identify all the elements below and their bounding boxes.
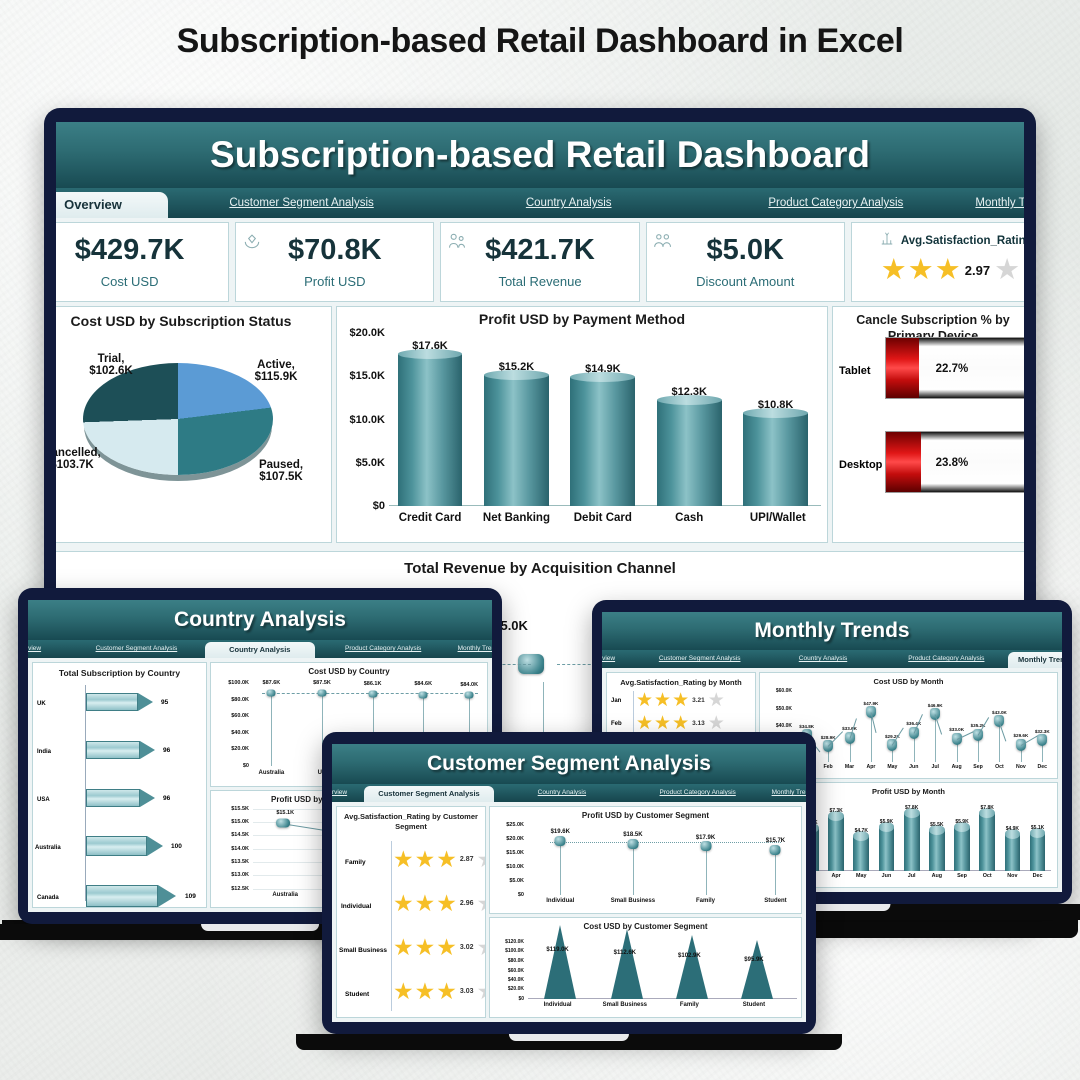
star-icon: ★ xyxy=(654,691,671,710)
star-icon: ★ xyxy=(654,714,671,733)
value-label: 95 xyxy=(161,699,168,706)
rating-stars: ★★★ 2.87 ★ xyxy=(393,848,486,871)
chart-satisfaction-by-customer-segment: Avg.Satisfaction_Rating by Customer Segm… xyxy=(336,806,486,1018)
bar xyxy=(743,413,808,506)
rating-value: 2.96 xyxy=(460,900,474,907)
tab-monthly-trends[interactable]: Monthly Trends xyxy=(969,188,1024,218)
star-icon: ★ xyxy=(393,892,414,915)
y-tick: Individual xyxy=(341,903,371,910)
bar-label: $17.6K xyxy=(398,340,463,352)
tab-customer-segment-analysis[interactable]: Customer Segment Analysis xyxy=(364,786,494,802)
y-axis: $0 $5.0K $10.0K $15.0K $20.0K xyxy=(337,333,387,506)
data-label: $33.6K xyxy=(839,726,861,731)
kpi-label: Cost USD xyxy=(101,274,159,289)
bar xyxy=(398,354,463,506)
data-label: $4.9K xyxy=(1000,826,1026,832)
rating-value: 2.97 xyxy=(965,263,990,278)
x-tick: Small Business xyxy=(601,898,666,904)
customer-segment-laptop: Customer Segment Analysis Overview Custo… xyxy=(322,732,816,1050)
money-people-icon xyxy=(447,231,467,256)
drop-line xyxy=(271,693,272,766)
tab-country-analysis[interactable]: Country Analysis xyxy=(435,188,702,218)
page-title: Subscription-based Retail Dashboard in E… xyxy=(0,22,1080,61)
bar-label: $15.2K xyxy=(484,361,549,373)
bar-label: $14.9K xyxy=(570,363,635,375)
rating-stars: ★★★ 3.21 ★ xyxy=(636,691,725,710)
x-tick: Jul xyxy=(924,764,946,770)
kpi-value: $70.8K xyxy=(288,236,382,265)
kpi-avg-satisfaction-rating: Avg.Satisfaction_Rating ★ ★ ★ 2.97 ★ xyxy=(851,222,1024,302)
tab-country-analysis[interactable]: Country Analysis xyxy=(761,650,884,668)
star-icon: ★ xyxy=(881,256,907,285)
data-label: $19.6K xyxy=(528,829,593,835)
drop-line xyxy=(543,682,544,734)
cone-bar xyxy=(611,929,643,999)
rating-stars: ★★★ 3.03 ★ xyxy=(393,980,486,1003)
chart-profit-usd-by-customer-segment: Profit USD by Customer Segment $0 $5.0K … xyxy=(489,806,802,914)
cone-bar xyxy=(544,925,576,999)
bar xyxy=(853,836,869,871)
tab-product-category-analysis[interactable]: Product Category Analysis xyxy=(702,188,969,218)
x-axis: Individual Small Business Family Student xyxy=(528,898,797,910)
x-tick: Sep xyxy=(967,764,989,770)
data-point-marker xyxy=(465,692,474,699)
data-label: $95.9K xyxy=(722,957,787,963)
star-icon: ★ xyxy=(994,256,1020,285)
data-point-marker xyxy=(770,845,781,855)
tab-overview[interactable]: Overview xyxy=(56,192,168,218)
bar xyxy=(954,827,970,871)
tab-overview[interactable]: Overview xyxy=(602,650,638,668)
star-icon: ★ xyxy=(477,936,487,959)
chart-title: Cost USD by Customer Segment xyxy=(490,918,801,931)
value-label: 96 xyxy=(163,747,170,754)
data-point-marker xyxy=(318,689,327,696)
star-icon: ★ xyxy=(436,980,457,1003)
monthly-tabbar[interactable]: Overview Customer Segment Analysis Count… xyxy=(602,650,1062,668)
rating-value: 3.02 xyxy=(460,944,474,951)
chart-title: Profit USD by Payment Method xyxy=(337,307,827,327)
x-tick: May xyxy=(848,873,874,879)
tab-product-category-analysis[interactable]: Product Category Analysis xyxy=(630,784,766,802)
tab-customer-segment-analysis[interactable]: Customer Segment Analysis xyxy=(168,188,435,218)
data-point-marker xyxy=(267,689,276,696)
data-label: $34.8K xyxy=(796,724,818,729)
people-group-icon xyxy=(653,231,673,256)
data-label: $112.6K xyxy=(593,950,658,956)
kpi-value: $5.0K xyxy=(707,236,784,265)
value-label: 100 xyxy=(171,843,182,850)
drop-line xyxy=(775,849,776,895)
data-label: $17.9K xyxy=(673,835,738,841)
data-label: $29.6K xyxy=(1010,733,1032,738)
data-point-marker xyxy=(419,691,428,698)
x-tick: Feb xyxy=(817,764,839,770)
kpi-label: Profit USD xyxy=(304,274,365,289)
x-tick: Nov xyxy=(1010,764,1032,770)
pencil-bar xyxy=(86,836,166,856)
data-label: $32.3K xyxy=(1031,729,1053,734)
x-tick: Aug xyxy=(924,873,950,879)
x-tick: Mar xyxy=(839,764,861,770)
chart-total-subscription-by-country: Total Subscription by Country UK 95 Indi… xyxy=(32,662,207,908)
pencil-bar xyxy=(86,885,180,907)
data-label: $47.9K xyxy=(860,701,882,706)
bar-label: $10.8K xyxy=(743,399,808,411)
star-icon: ★ xyxy=(708,691,725,710)
tab-product-category-analysis[interactable]: Product Category Analysis xyxy=(885,650,1008,668)
x-tick: Australia xyxy=(255,892,315,898)
x-tick: Dec xyxy=(1025,873,1051,879)
bar xyxy=(979,813,995,872)
bar xyxy=(828,816,844,871)
x-tick: Nov xyxy=(1000,873,1026,879)
value-label: 109 xyxy=(185,893,196,900)
tab-product-category-analysis[interactable]: Product Category Analysis xyxy=(315,640,452,658)
star-icon: ★ xyxy=(436,848,457,871)
cone-bar xyxy=(676,935,708,999)
y-tick: UK xyxy=(37,701,46,707)
tab-monthly-trends[interactable]: Monthly Trends xyxy=(1008,652,1062,668)
y-tick: India xyxy=(37,749,51,755)
x-axis: Individual Small Business Family Student xyxy=(528,1002,797,1014)
gauge-value: 23.8% xyxy=(936,457,969,469)
x-tick: UPI/Wallet xyxy=(726,512,828,524)
bar xyxy=(570,377,635,506)
x-tick: May xyxy=(882,764,904,770)
x-tick: Family xyxy=(673,898,738,904)
star-icon: ★ xyxy=(393,936,414,959)
rating-label: Avg.Satisfaction_Rating xyxy=(901,235,1024,247)
data-label: $43.0K xyxy=(989,710,1011,715)
kpi-label: Discount Amount xyxy=(696,274,794,289)
data-label: $7.8K xyxy=(899,805,925,811)
star-icon: ★ xyxy=(415,936,436,959)
star-icon: ★ xyxy=(672,714,689,733)
y-tick: Feb xyxy=(611,721,622,727)
star-icon: ★ xyxy=(477,980,487,1003)
laptop-base xyxy=(296,1034,842,1050)
x-tick: Debit Card xyxy=(553,512,652,524)
bar-label: $12.3K xyxy=(657,386,722,398)
data-label: $5.1K xyxy=(1025,825,1051,831)
chart-title: Avg.Satisfaction_Rating by Month xyxy=(607,673,755,687)
data-label: $4.7K xyxy=(848,828,874,834)
y-tick: Australia xyxy=(35,845,61,851)
data-label: $33.0K xyxy=(946,727,968,732)
gauge-tablet: 22.7% xyxy=(885,337,1024,399)
chart-cost-by-subscription-status: Cost USD by Subscription Status Trial, $… xyxy=(56,306,332,543)
star-icon: ★ xyxy=(908,256,934,285)
y-tick: Family xyxy=(345,859,366,866)
drop-line xyxy=(560,840,561,895)
y-tick: USA xyxy=(37,797,50,803)
kpi-cost-usd: $429.7K Cost USD xyxy=(56,222,229,302)
x-axis: FebMarAprMayJunJulAugSepOctNovDec xyxy=(796,764,1053,776)
rating-value: 3.03 xyxy=(460,988,474,995)
y-tick: Jan xyxy=(611,698,621,704)
rating-stars: ★★★ 2.96 ★ xyxy=(393,892,486,915)
kpi-value: $421.7K xyxy=(485,236,595,265)
data-point-marker xyxy=(700,841,711,851)
segment-tabbar[interactable]: Overview Customer Segment Analysis Count… xyxy=(332,784,806,802)
bar xyxy=(484,375,549,506)
data-label: $5.9K xyxy=(874,819,900,825)
monthly-header: Monthly Trends xyxy=(602,612,1062,650)
rating-value: 3.13 xyxy=(692,720,705,727)
pie-slice-label-paused: Paused, $107.5K xyxy=(239,459,323,483)
rating-value: 2.87 xyxy=(460,856,474,863)
y-tick: Canada xyxy=(37,895,59,901)
value-label: 96 xyxy=(163,795,170,802)
chart-title: Total Subscription by Country xyxy=(33,663,206,678)
bar xyxy=(929,830,945,871)
data-label: $36.4K xyxy=(903,721,925,726)
tab-customer-segment-analysis[interactable]: Customer Segment Analysis xyxy=(638,650,761,668)
x-tick: Family xyxy=(657,1002,722,1008)
star-icon: ★ xyxy=(477,848,487,871)
chart-cost-usd-by-customer-segment: Cost USD by Customer Segment $0 $20.0K $… xyxy=(489,917,802,1018)
star-icon: ★ xyxy=(436,892,457,915)
data-point-marker xyxy=(555,836,566,846)
gauge-value: 22.7% xyxy=(936,363,969,375)
x-tick: Apr xyxy=(823,873,849,879)
pencil-bar xyxy=(86,741,158,759)
y-tick: Student xyxy=(345,991,369,998)
data-label: $15.1K xyxy=(255,810,315,816)
data-label: $5.9K xyxy=(949,819,975,825)
kpi-row: $429.7K Cost USD $70.8K Profit USD xyxy=(56,218,1024,302)
data-label: $7.8K xyxy=(974,805,1000,811)
star-icon: ★ xyxy=(415,848,436,871)
country-tabbar[interactable]: Overview Customer Segment Analysis Count… xyxy=(28,640,492,658)
pie-slice-label-active: Active, $115.9K xyxy=(236,359,316,383)
kpi-label: Total Revenue xyxy=(498,274,581,289)
chart-title: Total Revenue by Acquisition Channel xyxy=(56,552,1024,577)
tab-monthly-trends[interactable]: Monthly Trends xyxy=(452,640,492,658)
bar xyxy=(904,813,920,872)
rating-stars: ★★★ 3.13 ★ xyxy=(636,714,725,733)
x-tick: Cash xyxy=(644,512,735,524)
chart-title: Cost USD by Month xyxy=(760,673,1057,686)
x-tick: Individual xyxy=(528,898,593,904)
bar xyxy=(879,827,895,871)
chart-title: Cost USD by Country xyxy=(211,663,487,676)
gauge-desktop: 23.8% xyxy=(885,431,1024,493)
data-label: $35.2K xyxy=(967,723,989,728)
fountain-icon xyxy=(878,229,896,252)
pencil-bar xyxy=(86,693,156,711)
country-header: Country Analysis xyxy=(28,600,492,640)
y-axis: $12.5K $13.0K $13.5K $14.0K $14.5K $15.0… xyxy=(211,809,251,889)
cone-bar xyxy=(741,940,773,999)
chart-cancel-subscription-by-device: Cancle Subscription % by Primary Device … xyxy=(832,306,1024,543)
data-label: $5.5K xyxy=(924,822,950,828)
main-dashboard-header: Subscription-based Retail Dashboard xyxy=(56,122,1024,188)
x-tick: Student xyxy=(743,898,802,904)
plot-area: $119.0K $112.6K $102.9K $95.9K xyxy=(528,942,797,999)
gauge-label-desktop: Desktop xyxy=(839,459,882,471)
bar-chart-icon xyxy=(56,231,57,256)
bar xyxy=(1005,834,1021,871)
rating-stars: ★★★ 3.02 ★ xyxy=(393,936,486,959)
x-tick: Aug xyxy=(946,764,968,770)
chart-title: Cost USD by Subscription Status xyxy=(56,307,331,329)
rating-value: 3.21 xyxy=(692,697,705,704)
tab-customer-segment-analysis[interactable]: Customer Segment Analysis xyxy=(68,640,205,658)
gauge-label-tablet: Tablet xyxy=(839,365,871,377)
star-icon: ★ xyxy=(415,980,436,1003)
data-label: $15.7K xyxy=(743,838,802,844)
star-icon: ★ xyxy=(708,714,725,733)
pencil-bar xyxy=(86,789,158,807)
x-tick: Jul xyxy=(899,873,925,879)
tab-monthly-trends[interactable]: Monthly Trends xyxy=(766,784,806,802)
star-icon: ★ xyxy=(393,980,414,1003)
data-label: $29.2K xyxy=(882,734,904,739)
plot-area: $19.6K $18.5K $17.9K $15.7K xyxy=(528,825,797,895)
customer-segment-screen: Customer Segment Analysis Overview Custo… xyxy=(332,744,806,1022)
data-label: $119.0K xyxy=(525,947,590,953)
y-tick: Small Business xyxy=(339,947,387,954)
tab-country-analysis[interactable]: Country Analysis xyxy=(494,784,630,802)
main-tabbar[interactable]: Overview Customer Segment Analysis Count… xyxy=(56,188,1024,218)
data-point-marker xyxy=(1037,734,1047,746)
data-label: $84.0K xyxy=(439,682,488,688)
star-icon: ★ xyxy=(415,892,436,915)
x-tick: Sep xyxy=(949,873,975,879)
pie-slice-label-cancelled: Cancelled, $103.7K xyxy=(56,447,115,471)
x-tick: Oct xyxy=(974,873,1000,879)
x-tick: Oct xyxy=(989,764,1011,770)
data-label: $7.3K xyxy=(823,808,849,814)
y-axis: $0 $20.0K $40.0K $60.0K $80.0K $100.0K xyxy=(211,683,251,766)
star-icon: ★ xyxy=(477,892,487,915)
y-axis: $0 $5.0K $10.0K $15.0K $20.0K $25.0K xyxy=(490,825,526,895)
bar xyxy=(657,400,722,506)
x-tick: Jun xyxy=(903,764,925,770)
star-icon: ★ xyxy=(436,936,457,959)
pie-slice-label-trial: Trial, $102.6K xyxy=(71,353,151,377)
plot-area: $34.8K$28.9K$33.6K$47.9K$29.2K$36.4K$46.… xyxy=(796,691,1053,762)
star-icon: ★ xyxy=(636,714,653,733)
drop-line xyxy=(706,845,707,895)
diamond-hands-icon xyxy=(242,231,262,256)
kpi-discount-amount: $5.0K Discount Amount xyxy=(646,222,845,302)
x-axis: Credit Card Net Banking Debit Card Cash … xyxy=(389,512,821,532)
x-tick: Small Business xyxy=(593,1002,658,1008)
tab-country-analysis[interactable]: Country Analysis xyxy=(205,642,315,658)
chart-profit-by-payment-method: Profit USD by Payment Method $0 $5.0K $1… xyxy=(336,306,828,543)
star-icon: ★ xyxy=(935,256,961,285)
data-label: $18.5K xyxy=(601,832,666,838)
x-tick: Student xyxy=(722,1002,787,1008)
plot-area: $17.6K $15.2K $14.9K $12.3K $10.8K xyxy=(389,333,821,506)
y-axis: $0 $20.0K $40.0K $60.0K $80.0K $100.0K $… xyxy=(490,942,526,999)
rating-stars: ★ ★ ★ 2.97 ★ xyxy=(881,256,1020,285)
chart-title: Avg.Satisfaction_Rating by Customer Segm… xyxy=(337,807,485,832)
x-tick: Dec xyxy=(1031,764,1053,770)
data-label: $46.9K xyxy=(924,703,946,708)
x-tick: Apr xyxy=(860,764,882,770)
star-icon: ★ xyxy=(672,691,689,710)
kpi-value: $429.7K xyxy=(75,236,185,265)
data-point-marker xyxy=(627,839,638,849)
x-tick: Individual xyxy=(525,1002,590,1008)
kpi-total-revenue: $421.7K Total Revenue xyxy=(440,222,639,302)
data-point-marker xyxy=(368,690,377,697)
data-label: $102.9K xyxy=(657,953,722,959)
data-point-marker xyxy=(276,819,290,828)
kpi-profit-usd: $70.8K Profit USD xyxy=(235,222,434,302)
tab-overview[interactable]: Overview xyxy=(332,784,364,802)
tab-overview[interactable]: Overview xyxy=(28,640,68,658)
segment-header: Customer Segment Analysis xyxy=(332,744,806,784)
bar xyxy=(1030,833,1046,871)
star-icon: ★ xyxy=(393,848,414,871)
x-tick: Jun xyxy=(874,873,900,879)
drop-line xyxy=(633,843,634,895)
chart-title: Profit USD by Customer Segment xyxy=(490,807,801,820)
star-icon: ★ xyxy=(636,691,653,710)
